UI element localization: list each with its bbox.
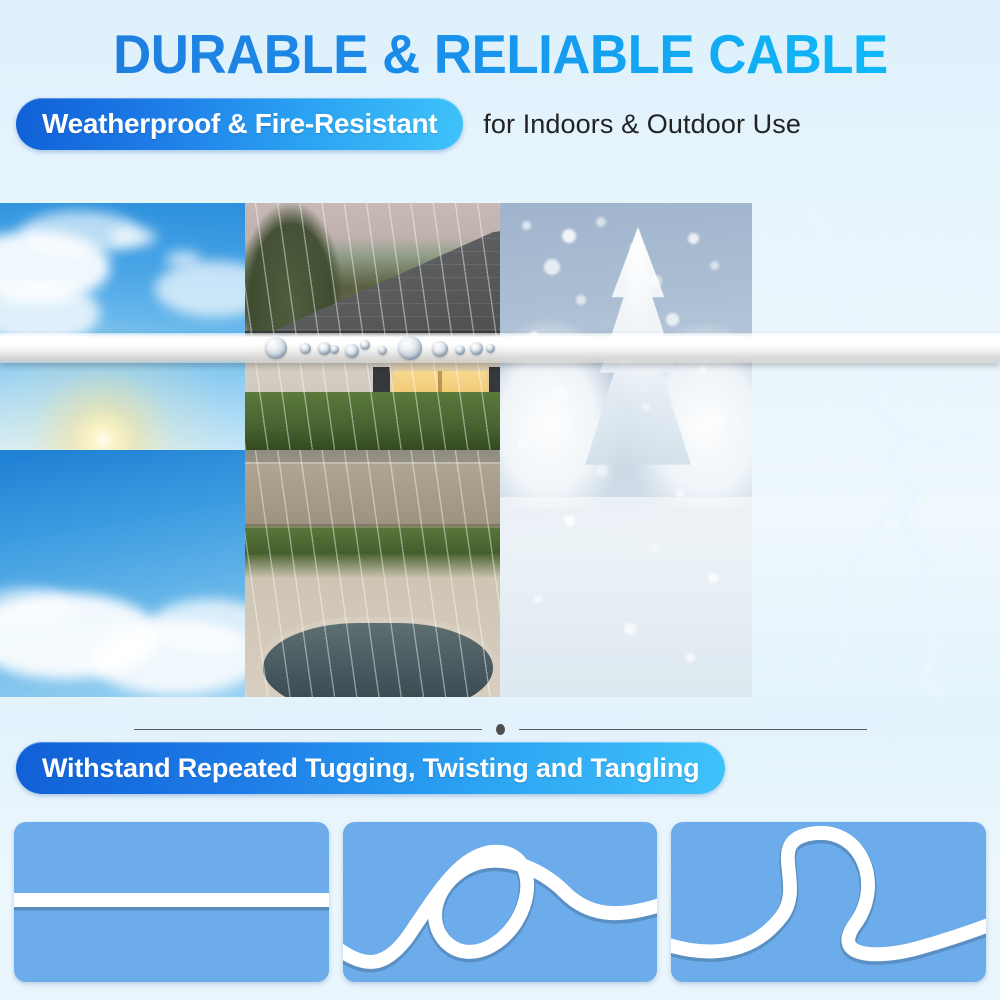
divider-line-left xyxy=(134,729,482,730)
cable-twisted-panel xyxy=(343,822,658,982)
durability-badge-label: Withstand Repeated Tugging, Twisting and… xyxy=(42,753,699,784)
section-divider-dot xyxy=(496,724,505,735)
sun-panel-top xyxy=(0,203,245,450)
section-divider xyxy=(0,722,1000,736)
snowflake-icon xyxy=(534,595,542,603)
rain-panel-top xyxy=(245,203,500,450)
water-droplet-icon xyxy=(432,341,448,357)
grass-icon xyxy=(245,528,500,554)
snowflake-icon xyxy=(518,439,527,448)
stone-wall-icon xyxy=(245,462,500,526)
snowflake-icon xyxy=(714,417,724,427)
water-droplet-icon xyxy=(486,344,495,353)
water-droplet-icon xyxy=(330,345,339,354)
sun-panel-bottom xyxy=(0,450,245,697)
water-droplet-icon xyxy=(360,340,370,350)
snow-panel xyxy=(500,203,752,697)
water-droplets-icon xyxy=(0,333,1000,363)
divider-line-right xyxy=(519,729,867,730)
snowflake-icon xyxy=(596,465,608,477)
snowflake-icon xyxy=(688,233,699,244)
durability-panels xyxy=(14,822,986,982)
sun-panel xyxy=(0,203,245,697)
hedge-icon xyxy=(245,392,500,450)
snowflake-icon xyxy=(698,365,707,374)
cloud-icon xyxy=(165,251,201,267)
twisted-cable-icon xyxy=(343,822,658,982)
pool-icon xyxy=(263,623,493,697)
snowflake-icon xyxy=(544,259,560,275)
lightning-panel xyxy=(752,203,1000,697)
rain-panel-bottom xyxy=(245,450,500,697)
weatherproof-badge: Weatherproof & Fire-Resistant xyxy=(16,98,463,150)
weather-photo-grid xyxy=(0,203,1000,697)
snowflake-icon xyxy=(710,261,719,270)
water-droplet-icon xyxy=(300,343,311,354)
subheader-trailing-text: for Indoors & Outdoor Use xyxy=(483,109,801,140)
looped-cable-icon xyxy=(671,822,986,982)
cloud-icon xyxy=(110,227,156,247)
snowflake-icon xyxy=(650,275,662,287)
page-title: DURABLE & RELIABLE CABLE xyxy=(113,26,888,82)
lightning-icon xyxy=(752,203,1000,697)
snowflake-icon xyxy=(624,623,636,635)
rain-panel xyxy=(245,203,500,697)
snowflake-icon xyxy=(630,243,638,251)
snowflake-icon xyxy=(576,295,586,305)
snowflake-icon xyxy=(642,403,650,411)
snowflake-icon xyxy=(650,543,659,552)
snowflake-icon xyxy=(562,229,576,243)
cable-straight-panel xyxy=(14,822,329,982)
headline-section: DURABLE & RELIABLE CABLE xyxy=(0,0,1000,82)
weatherproof-badge-label: Weatherproof & Fire-Resistant xyxy=(42,108,437,140)
subheader-row: Weatherproof & Fire-Resistant for Indoor… xyxy=(0,98,1000,150)
water-droplet-icon xyxy=(378,346,387,355)
snowflake-icon xyxy=(556,387,568,399)
water-droplet-icon xyxy=(265,337,287,359)
snowflake-icon xyxy=(596,217,606,227)
durability-badge: Withstand Repeated Tugging, Twisting and… xyxy=(16,742,725,794)
snowflake-icon xyxy=(666,313,679,326)
snowflake-icon xyxy=(686,653,695,662)
straight-cable-icon xyxy=(14,822,329,982)
durability-badge-row: Withstand Repeated Tugging, Twisting and… xyxy=(16,742,725,794)
water-droplet-icon xyxy=(470,342,483,355)
water-droplet-icon xyxy=(345,344,359,358)
cable-looped-panel xyxy=(671,822,986,982)
snowflake-icon xyxy=(564,515,575,526)
snowflake-icon xyxy=(522,221,531,230)
snowflake-icon xyxy=(708,573,718,583)
water-droplet-icon xyxy=(398,336,422,360)
water-droplet-icon xyxy=(455,345,465,355)
snowflake-icon xyxy=(676,489,684,497)
